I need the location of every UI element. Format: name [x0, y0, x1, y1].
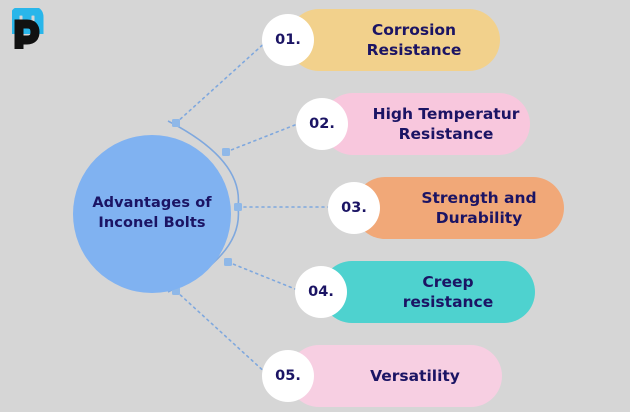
advantage-pill-4[interactable]: Creep resistance: [321, 261, 535, 323]
node-4: [224, 258, 232, 266]
advantage-label-3-line1: Strength and: [421, 189, 536, 207]
spoke-4: [228, 262, 300, 291]
advantage-label-2-line1: High Temperatur: [373, 105, 520, 123]
advantage-row-3[interactable]: Strength and Durability 03.: [328, 177, 568, 239]
advantage-badge-3: 03.: [328, 182, 380, 234]
advantage-label-2-line2: Resistance: [399, 125, 494, 143]
advantage-badge-5: 05.: [262, 350, 314, 402]
advantage-badge-4: 04.: [295, 266, 347, 318]
node-2: [222, 148, 230, 156]
advantage-label-1: Corrosion Resistance: [288, 20, 500, 60]
infographic-canvas: Advantages of Inconel Bolts Corrosion Re…: [0, 0, 630, 412]
spoke-5: [176, 291, 268, 375]
advantage-label-5: Versatility: [288, 366, 502, 386]
advantage-label-5-line1: Versatility: [370, 367, 460, 385]
node-1: [172, 119, 180, 127]
advantage-label-4: Creep resistance: [321, 272, 535, 312]
brand-logo: [12, 8, 66, 52]
advantage-label-4-line1: Creep: [422, 273, 473, 291]
advantage-badge-2: 02.: [296, 98, 348, 150]
center-topic-line1: Advantages of: [92, 195, 211, 211]
advantage-badge-1: 01.: [262, 14, 314, 66]
advantage-pill-2[interactable]: High Temperatur Resistance: [322, 93, 530, 155]
advantage-row-5[interactable]: Versatility 05.: [262, 345, 506, 407]
center-topic-circle: Advantages of Inconel Bolts: [73, 135, 231, 293]
advantage-row-1[interactable]: Corrosion Resistance 01.: [262, 9, 502, 71]
advantage-label-2: High Temperatur Resistance: [322, 104, 530, 144]
advantage-label-1-line2: Resistance: [367, 41, 462, 59]
advantage-row-4[interactable]: Creep resistance 04.: [295, 261, 539, 323]
advantage-pill-5[interactable]: Versatility: [288, 345, 502, 407]
advantage-pill-3[interactable]: Strength and Durability: [354, 177, 564, 239]
advantage-label-4-line2: resistance: [403, 293, 494, 311]
advantage-pill-1[interactable]: Corrosion Resistance: [288, 9, 500, 71]
advantage-label-3: Strength and Durability: [354, 188, 564, 228]
brand-logo-icon: [12, 8, 66, 52]
advantage-row-2[interactable]: High Temperatur Resistance 02.: [296, 93, 534, 155]
advantage-label-3-line2: Durability: [436, 209, 523, 227]
center-topic-label: Advantages of Inconel Bolts: [78, 194, 225, 233]
center-topic-line2: Inconel Bolts: [98, 215, 205, 231]
spoke-1: [176, 40, 268, 123]
spoke-2: [226, 123, 300, 152]
node-3: [234, 203, 242, 211]
advantage-label-1-line1: Corrosion: [372, 21, 456, 39]
